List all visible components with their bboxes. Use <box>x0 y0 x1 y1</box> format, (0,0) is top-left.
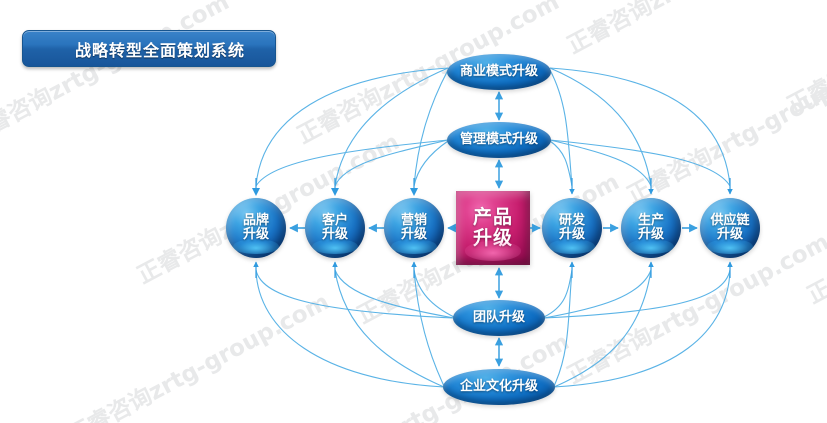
node-label: 商业模式升级 <box>460 65 538 79</box>
node-label: 生产升级 <box>638 214 664 242</box>
page-title-text: 战略转型全面策划系统 <box>53 37 245 61</box>
node-label: 供应链升级 <box>710 214 749 242</box>
node-customer-upgrade[interactable]: 客户升级 <box>305 198 365 258</box>
diagram-canvas: 正睿咨询zrtg-group.com 正睿咨询zrtg-group.com 正睿… <box>0 0 827 423</box>
node-team-upgrade[interactable]: 团队升级 <box>453 300 545 336</box>
node-management-model-upgrade[interactable]: 管理模式升级 <box>447 122 551 158</box>
node-supply-chain-upgrade[interactable]: 供应链升级 <box>700 198 760 258</box>
node-label: 客户升级 <box>322 214 348 242</box>
node-product-upgrade-center[interactable]: 产品升级 <box>456 191 530 265</box>
node-label: 营销升级 <box>401 214 427 242</box>
node-brand-upgrade[interactable]: 品牌升级 <box>226 198 286 258</box>
node-marketing-upgrade[interactable]: 营销升级 <box>384 198 444 258</box>
node-label: 管理模式升级 <box>460 133 538 147</box>
node-business-model-upgrade[interactable]: 商业模式升级 <box>447 54 551 90</box>
node-production-upgrade[interactable]: 生产升级 <box>621 198 681 258</box>
node-label: 企业文化升级 <box>460 380 538 394</box>
node-label: 研发升级 <box>559 214 585 242</box>
node-label: 团队升级 <box>473 311 525 325</box>
node-label: 品牌升级 <box>243 214 269 242</box>
page-title: 战略转型全面策划系统 <box>22 30 276 67</box>
node-rd-upgrade[interactable]: 研发升级 <box>542 198 602 258</box>
node-corporate-culture-upgrade[interactable]: 企业文化升级 <box>443 369 555 405</box>
node-label: 产品升级 <box>473 207 513 248</box>
